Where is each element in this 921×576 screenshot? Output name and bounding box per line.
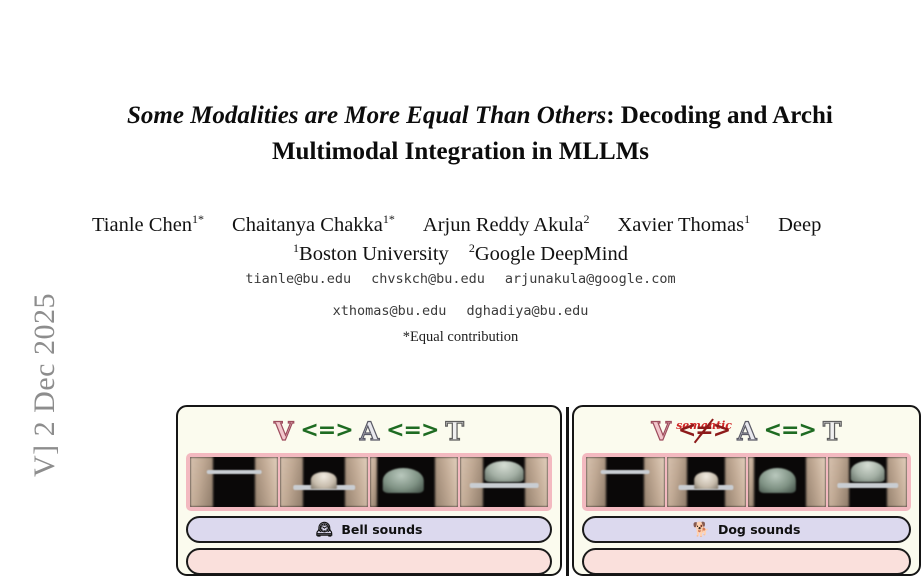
author-marks: 1 [744,212,750,226]
equal-contribution-note: *Equal contribution [0,329,921,346]
video-frame-strip-right [582,453,911,511]
figure-panel-right: V semantic <≠> A <=> T 🐕 Dog sounds [572,405,921,576]
email-address[interactable]: chvskch@bu.edu [371,271,485,287]
arrow-not-equal-icon: <≠> [678,418,730,443]
modality-relation-row-left: V <=> A <=> T [178,407,560,451]
author-entry: Tianle Chen1* [92,214,204,236]
affiliation-list: 1Boston University2Google DeepMind [0,241,921,266]
video-frame-strip-left [186,453,552,511]
modality-relation-row-right: V semantic <≠> A <=> T [574,407,919,451]
modality-audio-glyph: A [360,419,379,444]
affiliation-entry: 1Boston University [293,243,449,265]
author-name: Xavier Thomas [617,214,744,236]
page-title-rest-part: : Decoding and Archi [606,102,833,129]
page-title-line-2: Multimodal Integration in MLLMs [0,136,921,167]
video-frame [828,457,907,507]
modality-visual-glyph: V [651,419,670,444]
audio-caption-pill-right: 🐕 Dog sounds [582,516,911,543]
author-name: Tianle Chen [92,214,192,236]
author-entry: Arjun Reddy Akula2 [423,214,590,236]
video-frame [748,457,827,507]
audio-caption-label: Dog sounds [718,522,800,537]
author-marks: 1* [383,212,395,226]
text-caption-pill-right [582,548,911,575]
email-row-1: tianle@bu.educhvskch@bu.eduarjunakula@go… [0,271,921,287]
semantic-mismatch-group: semantic <≠> [678,420,730,442]
arrow-equal-icon: <=> [300,420,352,442]
author-list: Tianle Chen1*Chaitanya Chakka1*Arjun Red… [92,212,849,237]
author-name: Arjun Reddy Akula [423,214,584,236]
email-address[interactable]: tianle@bu.edu [245,271,351,287]
author-entry: Chaitanya Chakka1* [232,214,395,236]
figure-panel-left: V <=> A <=> T 🕰 Bell sounds [176,405,562,576]
author-entry: Deep [778,214,821,236]
author-entry: Xavier Thomas1 [617,214,750,236]
page-title-line-1: Some Modalities are More Equal Than Othe… [127,100,833,131]
email-address[interactable]: dghadiya@bu.edu [466,303,588,319]
arrow-equal-icon: <=> [386,420,438,442]
audio-caption-pill-left: 🕰 Bell sounds [186,516,552,543]
video-frame [190,457,278,507]
teaser-figure: V <=> A <=> T 🕰 Bell sounds V semantic <… [176,405,921,576]
page-title-italic-part: Some Modalities are More Equal Than Othe… [127,102,606,129]
author-name: Chaitanya Chakka [232,214,383,236]
email-row-2: xthomas@bu.edudghadiya@bu.edu [0,303,921,319]
email-address[interactable]: xthomas@bu.edu [333,303,447,319]
affiliation-name: Google DeepMind [475,243,628,265]
panel-divider [562,405,572,576]
video-frame [460,457,548,507]
text-caption-pill-left [186,548,552,575]
email-address[interactable]: arjunakula@google.com [505,271,676,287]
affiliation-entry: 2Google DeepMind [469,243,628,265]
affiliation-name: Boston University [299,243,449,265]
modality-text-glyph: T [445,419,464,444]
modality-audio-glyph: A [737,419,756,444]
video-frame [280,457,368,507]
arrow-equal-icon: <=> [764,420,816,442]
modality-text-glyph: T [823,419,842,444]
author-marks: 2 [583,212,589,226]
modality-visual-glyph: V [274,419,293,444]
video-frame [586,457,665,507]
author-marks: 1* [192,212,204,226]
video-frame [370,457,458,507]
bell-icon: 🕰 [316,523,334,537]
author-name: Deep [778,214,821,236]
dog-icon: 🐕 [693,523,710,537]
audio-caption-label: Bell sounds [341,522,422,537]
video-frame [667,457,746,507]
